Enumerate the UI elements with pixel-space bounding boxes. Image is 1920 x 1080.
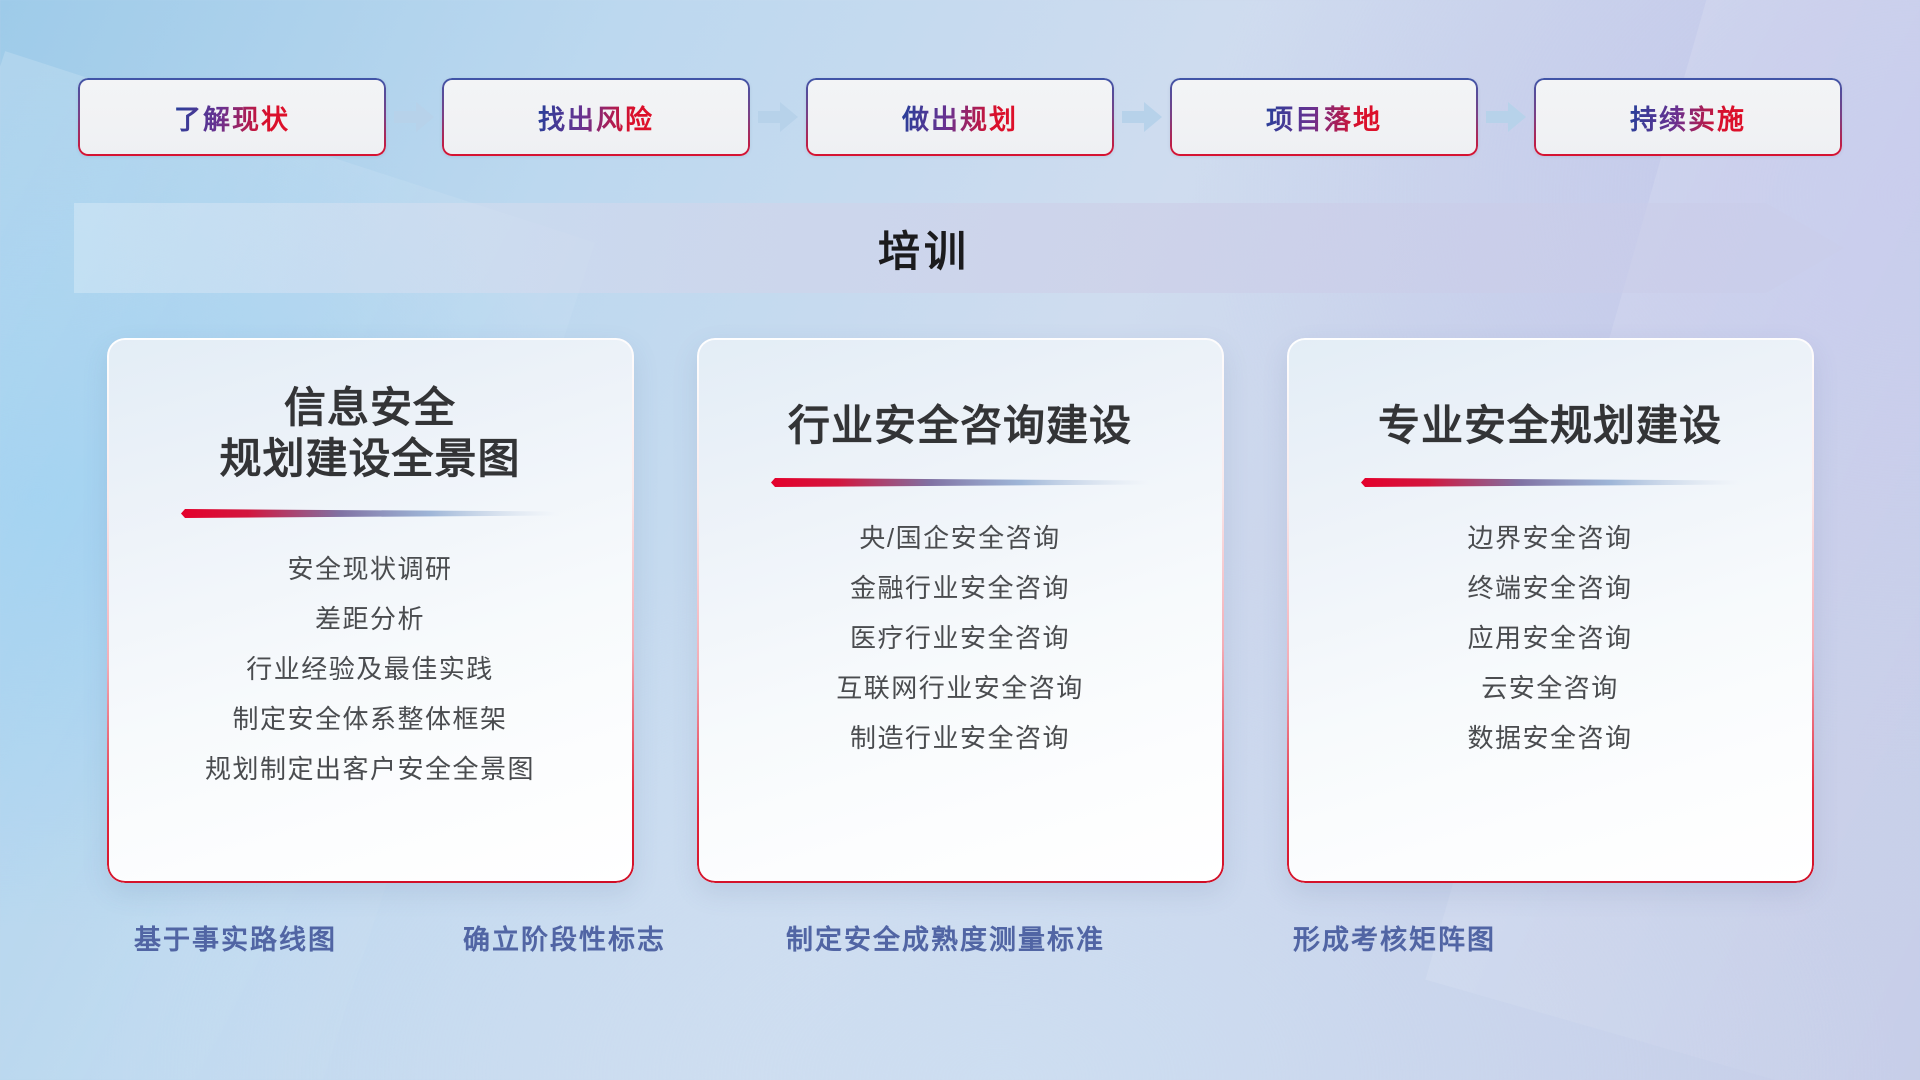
card-accent-divider	[1361, 475, 1739, 489]
card-title: 信息安全 规划建设全景图	[140, 382, 600, 484]
list-item: 安全现状调研	[287, 550, 452, 589]
step-button-1[interactable]: 了解现状	[78, 78, 386, 156]
card-industry-security-consulting[interactable]: 行业安全咨询建设 央/国企安全咨询 金融行业安全咨询 医疗行业安全咨	[697, 338, 1224, 883]
caption-label: 制定安全成熟度测量标准	[786, 918, 1105, 957]
step-button-3[interactable]: 做出规划	[806, 78, 1114, 156]
card-title-line: 行业安全咨询建设	[730, 400, 1190, 451]
list-item: 央/国企安全咨询	[859, 519, 1060, 558]
caption-row: 基于事实路线图 确立阶段性标志 制定安全成熟度测量标准 形成考核矩阵图	[0, 918, 1920, 966]
arrow-right-icon	[1478, 78, 1534, 156]
arrow-right-icon	[1114, 78, 1170, 156]
card-accent-divider	[181, 506, 559, 520]
list-item: 医疗行业安全咨询	[850, 619, 1070, 658]
card-professional-security-planning[interactable]: 专业安全规划建设 边界安全咨询 终端安全咨询 应用安全咨询	[1287, 338, 1814, 883]
caption-label: 确立阶段性标志	[463, 918, 666, 957]
list-item: 数据安全咨询	[1467, 719, 1632, 758]
list-item: 制造行业安全咨询	[850, 719, 1070, 758]
step-label: 持续实施	[1630, 98, 1746, 137]
list-item: 终端安全咨询	[1467, 569, 1632, 608]
list-item: 制定安全体系整体框架	[232, 700, 507, 739]
list-item: 规划制定出客户安全全景图	[205, 750, 535, 789]
card-title: 行业安全咨询建设	[730, 400, 1190, 451]
card-title: 专业安全规划建设	[1320, 400, 1780, 451]
list-item: 差距分析	[315, 600, 425, 639]
card-item-list: 安全现状调研 差距分析 行业经验及最佳实践 制定安全体系整体框架 规划制定出客户…	[107, 550, 634, 789]
card-row: 信息安全 规划建设全景图 安全现状调研 差距分析 行业经	[0, 338, 1920, 883]
list-item: 金融行业安全咨询	[850, 569, 1070, 608]
step-label: 找出风险	[538, 98, 654, 137]
step-button-4[interactable]: 项目落地	[1170, 78, 1478, 156]
card-title-line: 规划建设全景图	[140, 433, 600, 484]
list-item: 云安全咨询	[1481, 669, 1619, 708]
caption-label: 形成考核矩阵图	[1293, 918, 1496, 957]
caption-label: 基于事实路线图	[134, 918, 337, 957]
list-item: 行业经验及最佳实践	[246, 650, 494, 689]
step-button-5[interactable]: 持续实施	[1534, 78, 1842, 156]
list-item: 互联网行业安全咨询	[836, 669, 1084, 708]
card-accent-divider	[771, 475, 1149, 489]
card-information-security-panorama[interactable]: 信息安全 规划建设全景图 安全现状调研 差距分析 行业经	[107, 338, 634, 883]
list-item: 边界安全咨询	[1467, 519, 1632, 558]
card-title-line: 信息安全	[140, 382, 600, 433]
process-step-row: 了解现状 找出风险 做出规划 项目落地 持续实施	[0, 78, 1920, 156]
step-label: 了解现状	[174, 98, 290, 137]
step-label: 项目落地	[1266, 98, 1382, 137]
arrow-right-icon	[386, 78, 442, 156]
step-button-2[interactable]: 找出风险	[442, 78, 750, 156]
training-banner-label: 培训	[74, 203, 1774, 293]
card-item-list: 边界安全咨询 终端安全咨询 应用安全咨询 云安全咨询 数据安全咨询	[1287, 519, 1814, 758]
step-label: 做出规划	[902, 98, 1018, 137]
card-title-line: 专业安全规划建设	[1320, 400, 1780, 451]
arrow-right-icon	[750, 78, 806, 156]
list-item: 应用安全咨询	[1467, 619, 1632, 658]
card-item-list: 央/国企安全咨询 金融行业安全咨询 医疗行业安全咨询 互联网行业安全咨询 制造行…	[697, 519, 1224, 758]
training-banner: 培训	[74, 203, 1844, 293]
